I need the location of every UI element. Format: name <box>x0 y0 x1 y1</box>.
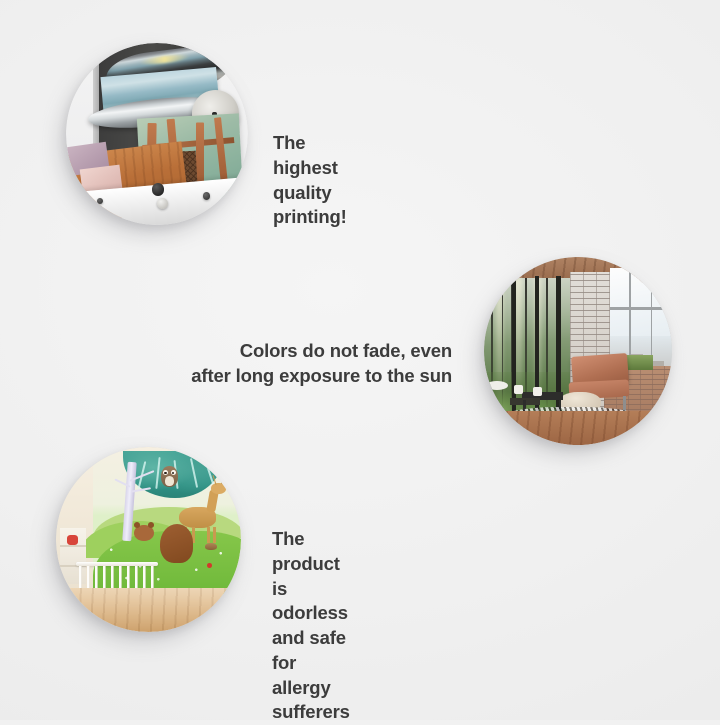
owl-eye <box>163 470 168 475</box>
printing-machine-photo <box>66 43 248 225</box>
loft-scene <box>484 257 672 445</box>
forest-mural-loft-photo <box>484 257 672 445</box>
press-scene <box>66 43 248 225</box>
shelf-divider <box>60 545 86 547</box>
bear-ear <box>148 522 154 528</box>
feature-printing-quality-caption: The highest quality printing! <box>273 131 347 230</box>
feature-colorfastness-caption: Colors do not fade, even after long expo… <box>152 339 452 389</box>
owl-character <box>161 466 178 487</box>
machine-knob <box>152 183 165 196</box>
owl-eye <box>171 470 176 475</box>
canopy-streak <box>156 457 161 489</box>
cup <box>514 385 523 394</box>
nursery-scene <box>56 447 241 632</box>
canopy-streak <box>190 458 198 487</box>
deer-head <box>211 483 226 494</box>
nursery-image-inner <box>56 447 241 632</box>
machine-bolt <box>203 192 210 199</box>
deer-leg <box>213 527 216 544</box>
forest-mural-image-inner <box>484 257 672 445</box>
red-toy <box>67 535 78 545</box>
owl-belly <box>165 476 174 485</box>
deer-leg <box>207 527 210 544</box>
window-frame <box>610 307 672 310</box>
machine-bolt <box>157 198 168 209</box>
nursery-animal-mural-photo <box>56 447 241 632</box>
floor-gloss-reflection <box>56 588 241 632</box>
infographic-stage: The highest quality printing! <box>0 0 720 720</box>
wooden-floor <box>484 411 672 445</box>
feature-odorless-safe-caption: The product is odorless and safe for all… <box>272 527 350 725</box>
printing-machine-image-inner <box>66 43 248 225</box>
bear-body <box>160 524 193 563</box>
cup <box>533 387 542 396</box>
ladybug <box>207 563 212 568</box>
bear-ear <box>134 522 140 528</box>
